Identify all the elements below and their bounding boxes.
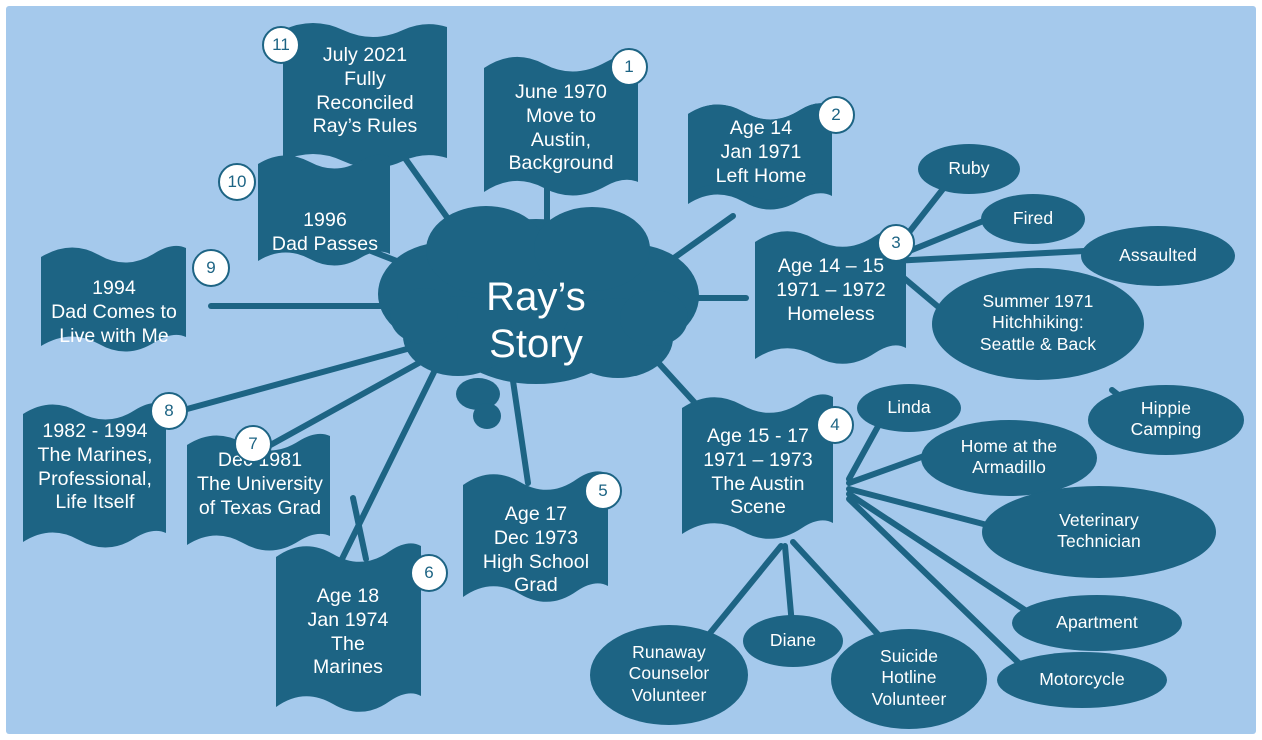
- ell-runaway[interactable]: [590, 625, 748, 725]
- badge-6[interactable]: 6: [410, 554, 448, 592]
- flag-6[interactable]: [276, 543, 421, 711]
- badge-4[interactable]: 4: [816, 406, 854, 444]
- ell-hippie[interactable]: [1088, 385, 1244, 455]
- center-cloud[interactable]: [378, 206, 699, 429]
- badge-3[interactable]: 3: [877, 224, 915, 262]
- badge-9[interactable]: 9: [192, 249, 230, 287]
- ell-apartment[interactable]: [1012, 595, 1182, 651]
- mindmap-page: Ray’s Story July 2021 Fully Reconciled R…: [0, 0, 1262, 740]
- flag-11[interactable]: [283, 23, 447, 168]
- badge-8[interactable]: 8: [150, 392, 188, 430]
- badge-5[interactable]: 5: [584, 472, 622, 510]
- badge-11[interactable]: 11: [262, 26, 300, 64]
- mindmap-graphics: [6, 6, 1256, 734]
- flag-2[interactable]: [688, 103, 832, 209]
- ell-hitch[interactable]: [932, 268, 1144, 380]
- ell-suicide[interactable]: [831, 629, 987, 729]
- ell-motorcycle[interactable]: [997, 652, 1167, 708]
- flag-8[interactable]: [23, 403, 166, 548]
- ell-diane[interactable]: [743, 615, 843, 667]
- badge-7[interactable]: 7: [234, 425, 272, 463]
- ell-linda[interactable]: [857, 384, 961, 432]
- flag-10[interactable]: [258, 155, 390, 266]
- badge-1[interactable]: 1: [610, 48, 648, 86]
- ell-vettech[interactable]: [982, 486, 1216, 578]
- flag-9[interactable]: [41, 246, 186, 352]
- ell-ruby[interactable]: [918, 144, 1020, 194]
- mindmap-canvas: Ray’s Story July 2021 Fully Reconciled R…: [6, 6, 1256, 734]
- ell-assaulted[interactable]: [1081, 226, 1235, 286]
- node-shapes: [23, 23, 1244, 729]
- badge-2[interactable]: 2: [817, 96, 855, 134]
- flag-4[interactable]: [682, 394, 833, 538]
- ell-fired[interactable]: [981, 194, 1085, 244]
- ell-armadillo[interactable]: [921, 420, 1097, 496]
- badge-10[interactable]: 10: [218, 163, 256, 201]
